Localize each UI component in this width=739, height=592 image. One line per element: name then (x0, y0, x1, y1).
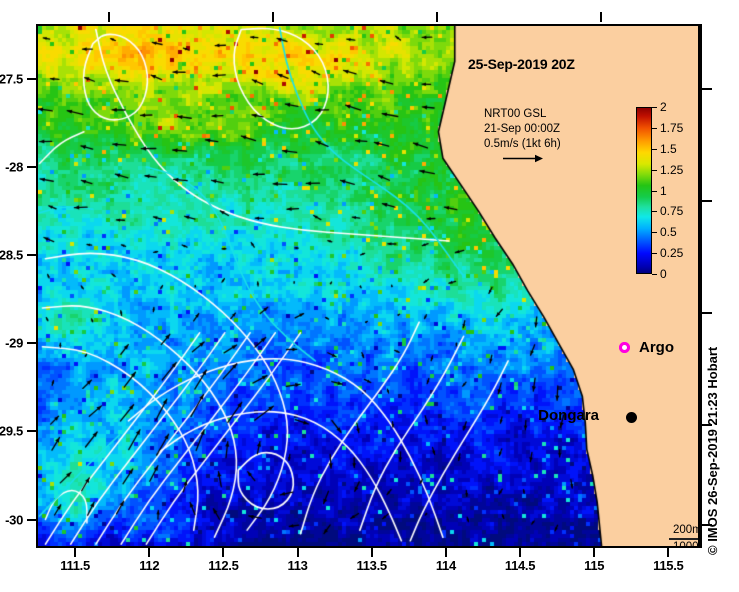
y-axis-tick (27, 519, 36, 521)
colorbar-tick (652, 107, 657, 108)
outer-frame-tick-top (436, 12, 438, 22)
outer-frame-tick (702, 312, 712, 314)
dongara-marker-icon[interactable] (626, 412, 637, 423)
vector-key: NRT00 GSL 21-Sep 00:00Z 0.5m/s (1kt 6h) (484, 107, 561, 164)
outer-frame-tick (702, 200, 712, 202)
depth-legend-1000m: 1000m (651, 541, 700, 548)
x-axis-tick (297, 548, 299, 557)
vector-key-arrow-icon (502, 153, 561, 164)
y-axis-tick (27, 254, 36, 256)
y-axis-tick-label: -27.5 (0, 71, 23, 86)
outer-frame-tick-top (108, 12, 110, 22)
sst-age-field-canvas[interactable] (38, 26, 698, 546)
colorbar-tick (652, 170, 657, 171)
colorbar-gradient (636, 107, 652, 274)
y-axis-tick (27, 342, 36, 344)
colorbar-tick (652, 149, 657, 150)
argo-marker-core (622, 345, 627, 350)
x-axis-tick-label: 114.5 (505, 558, 535, 573)
outer-frame-tick-top (600, 12, 602, 22)
depth-legend-200m: 200m (651, 524, 700, 541)
y-axis-tick-label: -28 (5, 160, 23, 175)
argo-marker-icon[interactable] (619, 342, 630, 353)
y-axis-tick-label: -30 (5, 512, 23, 527)
x-axis-tick-label: 113 (288, 558, 308, 573)
colorbar-tick (652, 232, 657, 233)
colorbar-tick (652, 211, 657, 212)
x-axis-tick-label: 111.5 (60, 558, 90, 573)
x-axis-tick (222, 548, 224, 557)
outer-frame-right-edge (700, 24, 702, 548)
vector-key-line1: NRT00 GSL (484, 107, 561, 122)
x-axis-tick (148, 548, 150, 557)
x-axis-tick (445, 548, 447, 557)
colorbar-tick-label: 0.75 (660, 204, 683, 218)
colorbar-tick-label: 1.75 (660, 121, 683, 135)
colorbar-tick-label: 0.5 (660, 225, 677, 239)
colorbar-tick-label: 0.25 (660, 246, 683, 260)
colorbar-tick-label: 1.5 (660, 142, 677, 156)
x-axis-tick-label: 115.5 (653, 558, 683, 573)
figure-root: 25-Sep-2019 20Z NRT00 GSL 21-Sep 00:00Z … (0, 0, 739, 592)
x-axis-tick-label: 112.5 (208, 558, 238, 573)
colorbar-tick (652, 253, 657, 254)
vector-key-line2: 21-Sep 00:00Z (484, 122, 561, 137)
x-axis-tick (74, 548, 76, 557)
x-axis-tick (371, 548, 373, 557)
colorbar-tick (652, 191, 657, 192)
x-axis-tick (667, 548, 669, 557)
timestamp-stamp: 25-Sep-2019 20Z (468, 56, 575, 72)
x-axis-tick-label: 112 (139, 558, 159, 573)
y-axis-tick-label: -29.5 (0, 424, 23, 439)
colorbar[interactable]: 21.751.51.2510.750.50.250 Age (days) of … (636, 86, 700, 301)
x-axis-tick-label: 113.5 (357, 558, 387, 573)
y-axis-tick-label: -28.5 (0, 248, 23, 263)
x-axis-tick-label: 114 (436, 558, 456, 573)
outer-frame-tick-top (272, 12, 274, 22)
colorbar-tick-label: 1 (660, 184, 667, 198)
depth-legend: 200m 1000m (651, 524, 700, 548)
depth-legend-1000m-label: 1000m (673, 541, 700, 548)
argo-label: Argo (639, 339, 674, 356)
copyright-label: © IMOS 26-Sep-2019 21:23 Hobart (705, 347, 720, 555)
vector-key-line3: 0.5m/s (1kt 6h) (484, 137, 561, 152)
y-axis-tick-label: -29 (5, 336, 23, 351)
x-axis-tick (519, 548, 521, 557)
colorbar-tick-label: 0 (660, 267, 667, 281)
x-axis-tick (593, 548, 595, 557)
map-plot-panel[interactable]: 25-Sep-2019 20Z NRT00 GSL 21-Sep 00:00Z … (36, 24, 700, 548)
colorbar-tick-label: 2 (660, 100, 667, 114)
depth-legend-200m-label: 200m (673, 524, 700, 536)
y-axis-tick (27, 166, 36, 168)
dongara-label: Dongara (538, 407, 599, 424)
x-axis-tick-label: 115 (584, 558, 604, 573)
colorbar-tick (652, 274, 657, 275)
colorbar-tick-label: 1.25 (660, 163, 683, 177)
outer-frame-tick (702, 88, 712, 90)
colorbar-tick (652, 128, 657, 129)
depth-legend-200m-rule (669, 538, 700, 540)
y-axis-tick (27, 430, 36, 432)
y-axis-tick (27, 78, 36, 80)
